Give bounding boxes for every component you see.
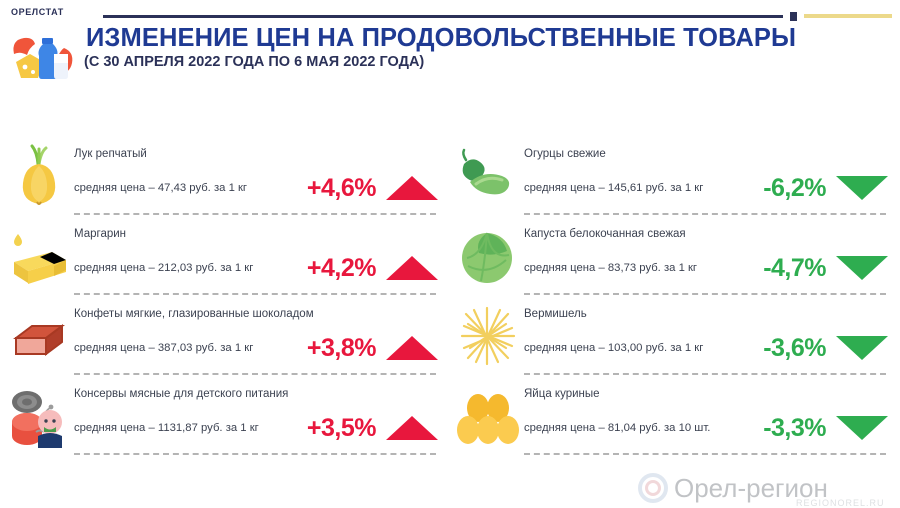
product-metrics: средняя цена – 212,03 руб. за 1 кг +4,2%: [74, 253, 438, 283]
eggs-icon: [456, 382, 522, 452]
product-name: Консервы мясные для детского питания: [74, 388, 288, 400]
price-change-grid: Лук репчатый средняя цена – 47,43 руб. з…: [0, 140, 900, 500]
percent-change: -6,2%: [763, 174, 826, 203]
list-item-body: Лук репчатый средняя цена – 47,43 руб. з…: [70, 140, 438, 220]
right-column: Огурцы свежие средняя цена – 145,61 руб.…: [450, 140, 900, 500]
watermark: Орел-регион REGIONOREL.RU: [638, 468, 898, 508]
triangle-down-icon: [836, 416, 888, 440]
product-metrics: средняя цена – 103,00 руб. за 1 кг -3,6%: [524, 333, 888, 363]
triangle-down-icon: [836, 336, 888, 360]
product-name: Капуста белокочанная свежая: [524, 228, 686, 240]
header-rule-navy-line: [103, 15, 783, 18]
page-header: ОРЕЛСТАТ ИЗМЕНЕНИЕ ЦЕН НА ПРОДОВОЛЬСТВЕН…: [0, 0, 900, 96]
list-item: Капуста белокочанная свежая средняя цена…: [450, 220, 900, 300]
triangle-down-icon: [836, 176, 888, 200]
row-divider: [524, 453, 886, 455]
list-item-body: Яйца куриные средняя цена – 81,04 руб. з…: [520, 380, 888, 460]
row-divider: [524, 213, 886, 215]
product-name: Яйца куриные: [524, 388, 600, 400]
list-item: Вермишель средняя цена – 103,00 руб. за …: [450, 300, 900, 380]
navy-square-marker-icon: [790, 12, 797, 21]
list-item: Конфеты мягкие, глазированные шоколадом …: [0, 300, 450, 380]
product-name: Вермишель: [524, 308, 587, 320]
list-item-body: Консервы мясные для детского питания сре…: [70, 380, 438, 460]
list-item: Огурцы свежие средняя цена – 145,61 руб.…: [450, 140, 900, 220]
orel-region-logo-icon: [638, 473, 668, 503]
average-price: средняя цена – 47,43 руб. за 1 кг: [74, 182, 247, 194]
product-metrics: средняя цена – 83,73 руб. за 1 кг -4,7%: [524, 253, 888, 283]
page-title: ИЗМЕНЕНИЕ ЦЕН НА ПРОДОВОЛЬСТВЕННЫЕ ТОВАР…: [86, 24, 796, 53]
percent-change: -4,7%: [763, 254, 826, 283]
list-item: Лук репчатый средняя цена – 47,43 руб. з…: [0, 140, 450, 220]
product-name: Огурцы свежие: [524, 148, 606, 160]
food-basket-icon: [8, 24, 78, 84]
product-metrics: средняя цена – 81,04 руб. за 10 шт. -3,3…: [524, 413, 888, 443]
average-price: средняя цена – 81,04 руб. за 10 шт.: [524, 422, 710, 434]
row-divider: [524, 293, 886, 295]
row-divider: [74, 213, 436, 215]
baby-food-can-icon: [6, 382, 72, 452]
list-item: Яйца куриные средняя цена – 81,04 руб. з…: [450, 380, 900, 460]
list-item: Консервы мясные для детского питания сре…: [0, 380, 450, 460]
list-item-body: Маргарин средняя цена – 212,03 руб. за 1…: [70, 220, 438, 300]
average-price: средняя цена – 387,03 руб. за 1 кг: [74, 342, 253, 354]
row-divider: [74, 293, 436, 295]
header-rule: [103, 12, 892, 20]
percent-change: +3,8%: [307, 334, 376, 363]
percent-change: -3,6%: [763, 334, 826, 363]
average-price: средняя цена – 83,73 руб. за 1 кг: [524, 262, 697, 274]
onion-icon: [6, 142, 72, 212]
product-metrics: средняя цена – 387,03 руб. за 1 кг +3,8%: [74, 333, 438, 363]
cabbage-icon: [456, 222, 522, 292]
percent-change: +4,6%: [307, 174, 376, 203]
brand-label: ОРЕЛСТАТ: [11, 7, 64, 17]
triangle-down-icon: [836, 256, 888, 280]
list-item-body: Огурцы свежие средняя цена – 145,61 руб.…: [520, 140, 888, 220]
list-item: Маргарин средняя цена – 212,03 руб. за 1…: [0, 220, 450, 300]
product-name: Лук репчатый: [74, 148, 147, 160]
watermark-url: REGIONOREL.RU: [796, 498, 885, 508]
product-name: Маргарин: [74, 228, 126, 240]
row-divider: [74, 453, 436, 455]
margarine-icon: [6, 222, 72, 292]
row-divider: [74, 373, 436, 375]
header-rule-gold-line: [804, 14, 892, 18]
product-metrics: средняя цена – 47,43 руб. за 1 кг +4,6%: [74, 173, 438, 203]
average-price: средняя цена – 103,00 руб. за 1 кг: [524, 342, 703, 354]
page-subtitle: (С 30 АПРЕЛЯ 2022 ГОДА ПО 6 МАЯ 2022 ГОД…: [84, 54, 424, 70]
list-item-body: Капуста белокочанная свежая средняя цена…: [520, 220, 888, 300]
cucumber-icon: [456, 142, 522, 212]
product-metrics: средняя цена – 145,61 руб. за 1 кг -6,2%: [524, 173, 888, 203]
percent-change: +4,2%: [307, 254, 376, 283]
vermicelli-icon: [456, 302, 522, 372]
percent-change: -3,3%: [763, 414, 826, 443]
row-divider: [524, 373, 886, 375]
left-column: Лук репчатый средняя цена – 47,43 руб. з…: [0, 140, 450, 500]
product-name: Конфеты мягкие, глазированные шоколадом: [74, 308, 314, 320]
triangle-up-icon: [386, 176, 438, 200]
triangle-up-icon: [386, 416, 438, 440]
average-price: средняя цена – 212,03 руб. за 1 кг: [74, 262, 253, 274]
percent-change: +3,5%: [307, 414, 376, 443]
chocolate-candy-icon: [6, 302, 72, 372]
list-item-body: Конфеты мягкие, глазированные шоколадом …: [70, 300, 438, 380]
product-metrics: средняя цена – 1131,87 руб. за 1 кг +3,5…: [74, 413, 438, 443]
triangle-up-icon: [386, 256, 438, 280]
list-item-body: Вермишель средняя цена – 103,00 руб. за …: [520, 300, 888, 380]
average-price: средняя цена – 145,61 руб. за 1 кг: [524, 182, 703, 194]
triangle-up-icon: [386, 336, 438, 360]
average-price: средняя цена – 1131,87 руб. за 1 кг: [74, 422, 259, 434]
